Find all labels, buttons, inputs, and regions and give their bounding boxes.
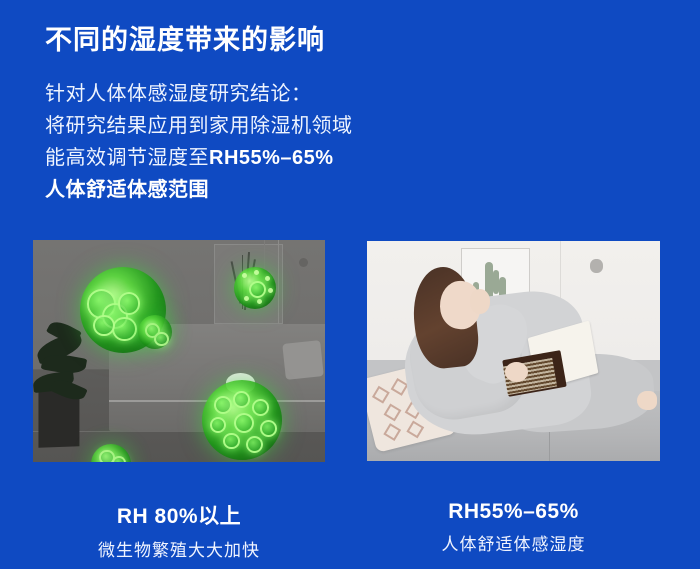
person-hand-lower <box>505 362 528 382</box>
intro-line-2: 将研究结果应用到家用除湿机领域 <box>45 110 353 142</box>
page-title: 不同的湿度带来的影响 <box>45 18 325 57</box>
wall-knob-icon <box>299 258 308 267</box>
wall-knob-icon <box>590 259 603 273</box>
caption-comfort-humidity: RH55%–65% 人体舒适体感湿度 <box>367 500 660 555</box>
photo-comfort-humidity <box>367 241 660 461</box>
intro-paragraph: 针对人体体感湿度研究结论： 将研究结果应用到家用除湿机领域 能高效调节湿度至RH… <box>45 78 353 206</box>
humidity-infographic-page: 不同的湿度带来的影响 针对人体体感湿度研究结论： 将研究结果应用到家用除湿机领域… <box>0 0 700 569</box>
sofa-cushion <box>282 340 323 379</box>
photo-high-humidity <box>33 240 325 462</box>
person-foot <box>637 391 658 411</box>
person-hand-upper <box>470 289 491 313</box>
intro-line-4: 人体舒适体感范围 <box>45 174 353 206</box>
intro-line-3: 能高效调节湿度至RH55%–65% <box>45 142 353 174</box>
intro-line-3-text: 能高效调节湿度至 <box>45 147 209 169</box>
caption-left-title: RH 80%以上 <box>33 500 325 530</box>
caption-right-subtitle: 人体舒适体感湿度 <box>367 530 660 555</box>
intro-line-1: 针对人体体感湿度研究结论： <box>45 78 353 110</box>
microbe-sphere-small <box>234 267 276 309</box>
microbe-sphere-bottom <box>91 444 131 462</box>
dim-room-scene <box>33 240 325 462</box>
microbe-sphere-medium <box>202 380 282 460</box>
caption-right-title: RH55%–65% <box>367 500 660 524</box>
bright-room-scene <box>367 241 660 461</box>
caption-high-humidity: RH 80%以上 微生物繁殖大大加快 <box>33 500 325 561</box>
hanging-line <box>264 240 265 271</box>
intro-line-3-range: RH55%–65% <box>209 147 334 169</box>
caption-left-subtitle: 微生物繁殖大大加快 <box>33 536 325 561</box>
